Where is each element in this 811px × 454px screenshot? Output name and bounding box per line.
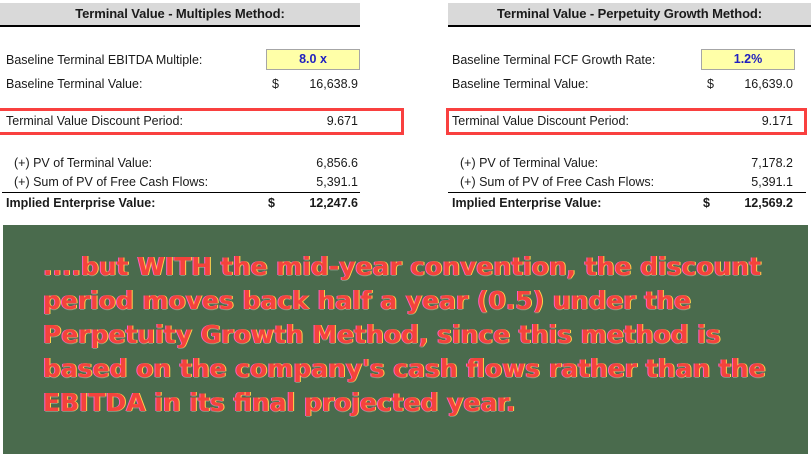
label-sum-of-pv-of-free-cash-flows-left: (+) Sum of PV of Free Cash Flows: [14,174,208,190]
value-baseline-terminal-value-left: 16,638.9 [258,76,358,92]
subtotal-divider-right [448,192,806,193]
label-pv-of-terminal-value-right: (+) PV of Terminal Value: [460,155,598,171]
label-pv-of-terminal-value-left: (+) PV of Terminal Value: [14,155,152,171]
label-sum-of-pv-of-free-cash-flows-right: (+) Sum of PV of Free Cash Flows: [460,174,654,190]
value-terminal-value-discount-period-left: 9.671 [258,113,358,129]
callout-panel: ....but WITH the mid-year convention, th… [3,225,808,454]
value-pv-of-terminal-value-left: 6,856.6 [258,155,358,171]
spreadsheet-canvas: Terminal Value - Multiples Method: Termi… [0,0,811,454]
panel-header-multiples-method: Terminal Value - Multiples Method: [0,3,360,27]
label-implied-enterprise-value-left: Implied Enterprise Value: [6,195,155,211]
input-baseline-terminal-fcf-growth-rate[interactable]: 1.2% [701,49,795,70]
label-baseline-terminal-value-left: Baseline Terminal Value: [6,76,142,92]
value-pv-of-terminal-value-right: 7,178.2 [693,155,793,171]
value-sum-of-pv-of-free-cash-flows-left: 5,391.1 [258,174,358,190]
value-terminal-value-discount-period-right: 9.171 [693,113,793,129]
label-baseline-terminal-fcf-growth-rate: Baseline Terminal FCF Growth Rate: [452,52,655,68]
value-baseline-terminal-value-right: 16,639.0 [693,76,793,92]
input-baseline-terminal-ebitda-multiple[interactable]: 8.0 x [266,49,360,70]
callout-text: ....but WITH the mid-year convention, th… [43,250,783,420]
label-implied-enterprise-value-right: Implied Enterprise Value: [452,195,601,211]
value-implied-enterprise-value-right: 12,569.2 [693,195,793,211]
label-baseline-terminal-ebitda-multiple: Baseline Terminal EBITDA Multiple: [6,52,202,68]
value-implied-enterprise-value-left: 12,247.6 [258,195,358,211]
value-sum-of-pv-of-free-cash-flows-right: 5,391.1 [693,174,793,190]
panel-header-perpetuity-growth-method: Terminal Value - Perpetuity Growth Metho… [448,3,811,27]
label-terminal-value-discount-period-right: Terminal Value Discount Period: [452,113,629,129]
label-baseline-terminal-value-right: Baseline Terminal Value: [452,76,588,92]
subtotal-divider-left [2,192,360,193]
label-terminal-value-discount-period-left: Terminal Value Discount Period: [6,113,183,129]
